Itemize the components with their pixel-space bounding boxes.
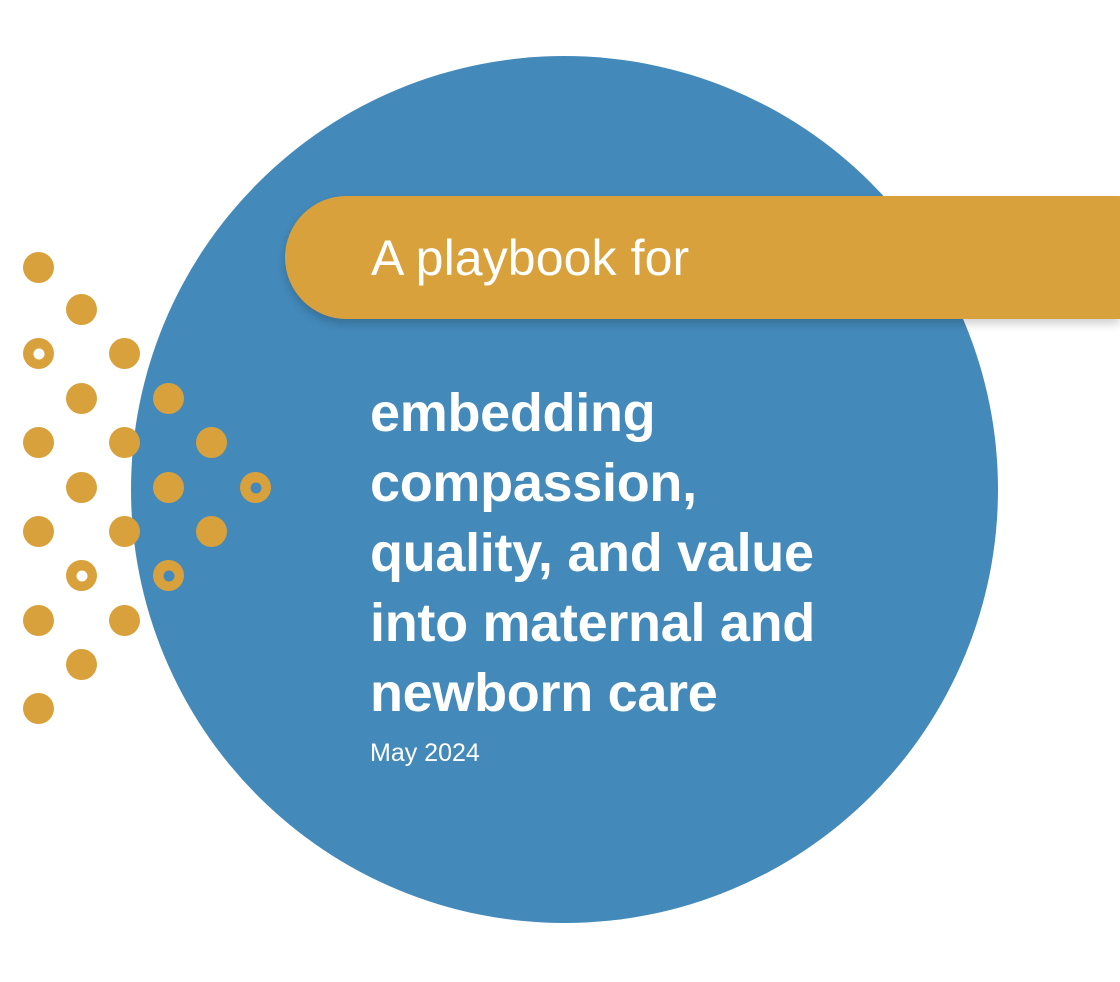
decorative-ring-dot — [23, 338, 54, 369]
decorative-dot — [66, 472, 97, 503]
decorative-dot — [23, 605, 54, 636]
publication-date: May 2024 — [370, 740, 930, 768]
decorative-dot — [66, 649, 97, 680]
title-line: quality, and value — [370, 518, 930, 588]
cover-slide: A playbook for embedding compassion, qua… — [0, 0, 1120, 982]
page-title: embedding compassion, quality, and value… — [370, 378, 930, 728]
decorative-dot — [23, 252, 54, 283]
title-line: embedding — [370, 378, 930, 448]
title-text-block: embedding compassion, quality, and value… — [370, 378, 930, 768]
decorative-dot — [23, 516, 54, 547]
title-line: compassion, — [370, 448, 930, 518]
decorative-dot — [109, 338, 140, 369]
gold-banner: A playbook for — [285, 196, 1120, 319]
decorative-dot — [23, 427, 54, 458]
title-line: into maternal and — [370, 588, 930, 658]
title-line: newborn care — [370, 658, 930, 728]
decorative-dot — [66, 383, 97, 414]
decorative-dot — [66, 294, 97, 325]
decorative-ring-dot — [66, 560, 97, 591]
banner-label: A playbook for — [371, 233, 689, 283]
decorative-dot — [109, 605, 140, 636]
decorative-dot — [23, 693, 54, 724]
